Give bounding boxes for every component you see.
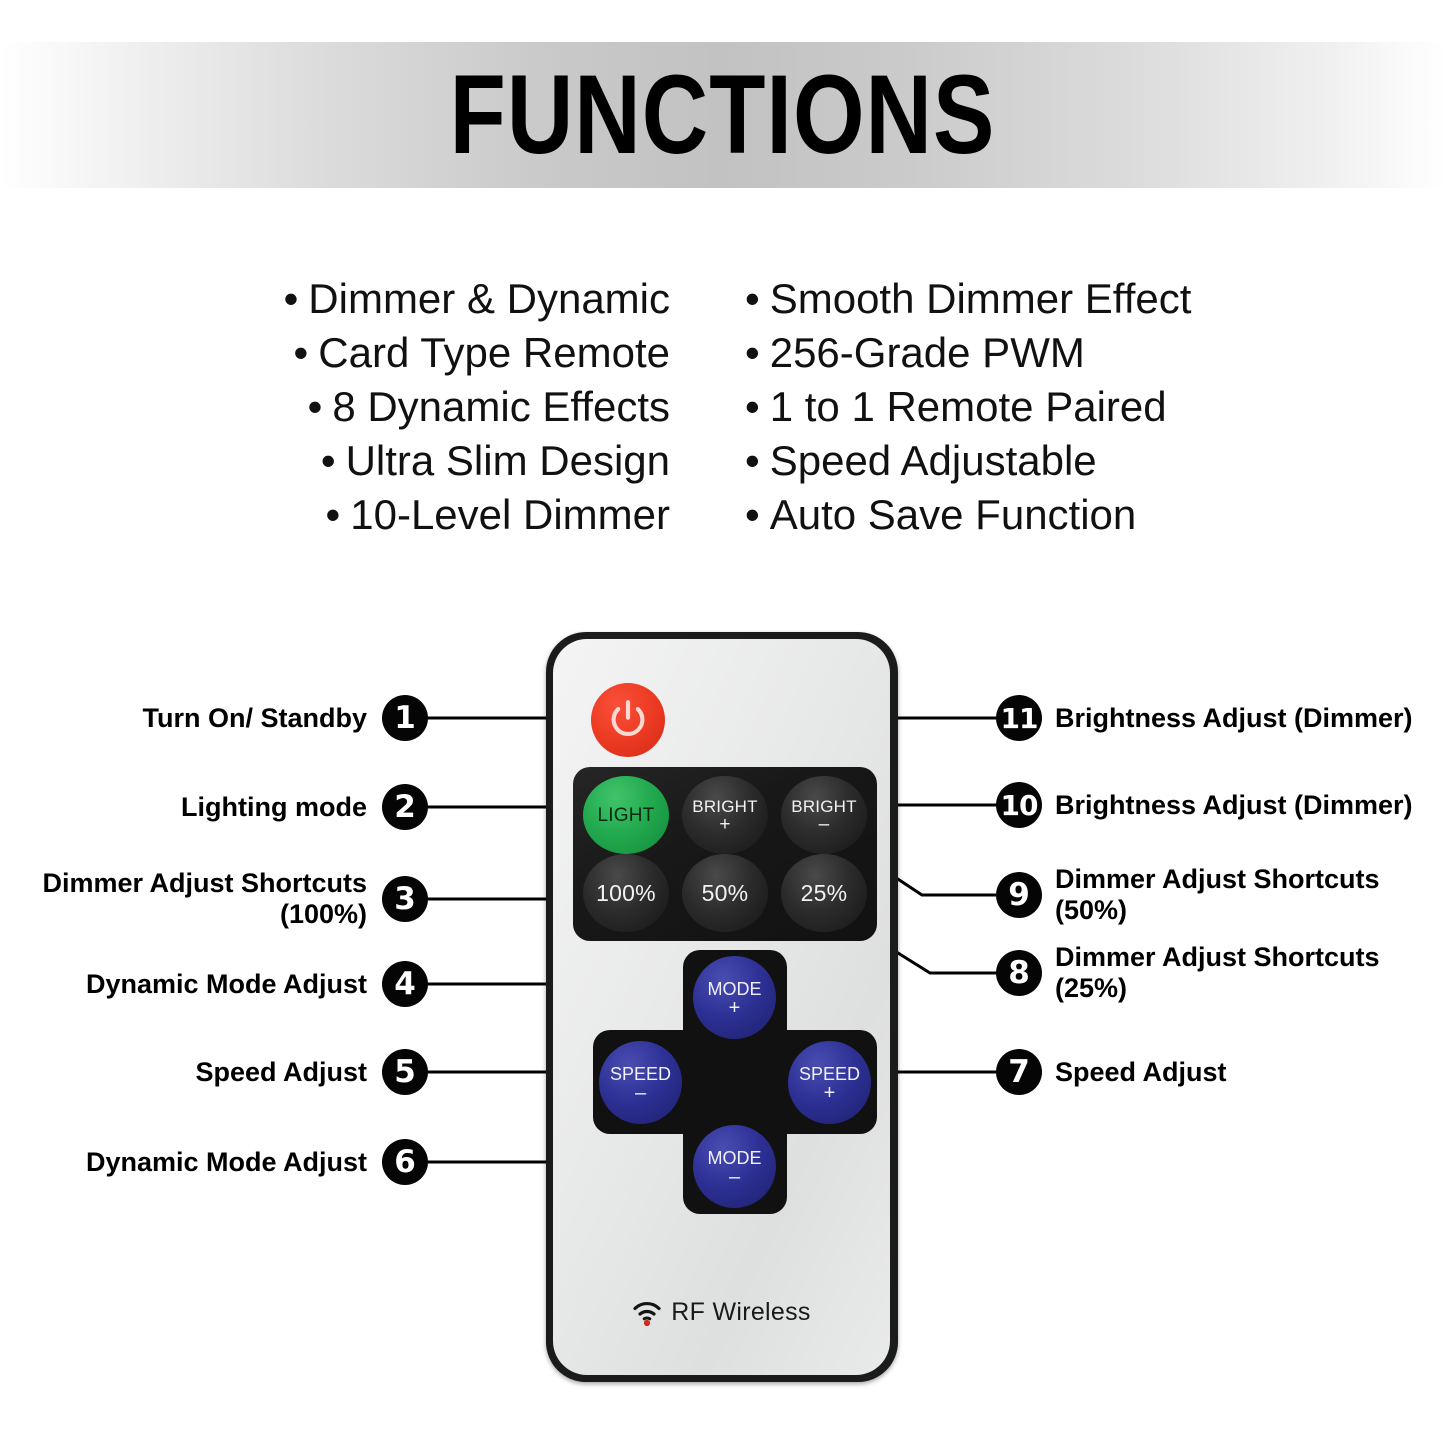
callout-2: Lighting mode 2 [40, 784, 428, 830]
button-label: MODE [708, 980, 762, 998]
callout-label: Brightness Adjust (Dimmer) [1042, 790, 1413, 821]
wifi-icon [632, 1300, 662, 1326]
callout-badge[interactable]: 1 [382, 695, 428, 741]
button-label: 50% [702, 885, 749, 902]
power-button[interactable] [591, 683, 665, 757]
callout-3: Dimmer Adjust Shortcuts (100%) 3 [20, 876, 428, 922]
callout-4: Dynamic Mode Adjust 4 [40, 961, 428, 1007]
dimmer-50-button[interactable]: 50% [682, 854, 768, 932]
callout-5: Speed Adjust 5 [40, 1049, 428, 1095]
callout-label: Speed Adjust [195, 1057, 382, 1088]
speed-up-button[interactable]: SPEED + [788, 1041, 871, 1124]
callout-badge[interactable]: 9 [996, 872, 1042, 918]
button-label: SPEED [799, 1065, 860, 1083]
callout-badge[interactable]: 8 [996, 950, 1042, 996]
remote-control: LIGHT BRIGHT + BRIGHT – 100% 50% [546, 632, 898, 1382]
callout-label: Dynamic Mode Adjust [86, 969, 382, 1000]
callout-label: Speed Adjust [1042, 1057, 1227, 1088]
button-label: SPEED [610, 1065, 671, 1083]
dpad-cluster: MODE + SPEED – SPEED + MODE – [593, 950, 877, 1214]
button-label: LIGHT [598, 807, 655, 824]
speed-down-button[interactable]: SPEED – [599, 1041, 682, 1124]
keypad-panel: LIGHT BRIGHT + BRIGHT – 100% 50% [573, 767, 877, 941]
callout-badge[interactable]: 2 [382, 784, 428, 830]
button-sublabel: + [719, 817, 730, 833]
callout-label: Dimmer Adjust Shortcuts (50%) [1042, 864, 1380, 926]
callout-label: Turn On/ Standby [143, 703, 383, 734]
callout-label: Dimmer Adjust Shortcuts (25%) [1042, 942, 1380, 1004]
callout-label: Lighting mode [181, 792, 382, 823]
callout-badge[interactable]: 5 [382, 1049, 428, 1095]
remote-faceplate: LIGHT BRIGHT + BRIGHT – 100% 50% [553, 639, 890, 1375]
light-button[interactable]: LIGHT [583, 776, 669, 854]
button-sublabel: – [819, 817, 830, 833]
callout-label: Brightness Adjust (Dimmer) [1042, 703, 1413, 734]
keypad-row-2: 100% 50% 25% [583, 854, 867, 932]
button-sublabel: – [729, 1170, 740, 1185]
callout-badge[interactable]: 6 [382, 1139, 428, 1185]
callout-badge[interactable]: 7 [996, 1049, 1042, 1095]
callout-badge[interactable]: 4 [382, 961, 428, 1007]
callout-8: 8 Dimmer Adjust Shortcuts (25%) [996, 944, 1426, 1002]
callout-10: 10 Brightness Adjust (Dimmer) [996, 782, 1426, 828]
bright-up-button[interactable]: BRIGHT + [682, 776, 768, 854]
callout-label: Dynamic Mode Adjust [86, 1147, 382, 1178]
button-sublabel: – [635, 1086, 646, 1101]
mode-up-button[interactable]: MODE + [693, 956, 776, 1039]
mode-down-button[interactable]: MODE – [693, 1125, 776, 1208]
callout-6: Dynamic Mode Adjust 6 [40, 1139, 428, 1185]
dimmer-100-button[interactable]: 100% [583, 854, 669, 932]
bright-down-button[interactable]: BRIGHT – [781, 776, 867, 854]
button-label: MODE [708, 1149, 762, 1167]
button-label: BRIGHT [791, 798, 856, 815]
keypad-row-1: LIGHT BRIGHT + BRIGHT – [583, 776, 867, 854]
dimmer-25-button[interactable]: 25% [781, 854, 867, 932]
button-sublabel: + [824, 1086, 836, 1101]
button-sublabel: + [729, 1001, 741, 1016]
button-label: 25% [801, 885, 848, 902]
power-icon [605, 697, 651, 743]
rf-wireless-footer: RF Wireless [553, 1298, 890, 1327]
rf-wireless-label: RF Wireless [671, 1298, 810, 1327]
button-label: 100% [596, 885, 656, 902]
callout-1: Turn On/ Standby 1 [40, 695, 428, 741]
callout-9: 9 Dimmer Adjust Shortcuts (50%) [996, 866, 1426, 924]
callout-badge[interactable]: 3 [382, 876, 428, 922]
callout-badge[interactable]: 10 [996, 782, 1042, 828]
callout-label: Dimmer Adjust Shortcuts (100%) [42, 868, 382, 930]
callout-7: 7 Speed Adjust [996, 1049, 1426, 1095]
button-label: BRIGHT [692, 798, 757, 815]
callout-11: 11 Brightness Adjust (Dimmer) [996, 695, 1426, 741]
callout-badge[interactable]: 11 [996, 695, 1042, 741]
